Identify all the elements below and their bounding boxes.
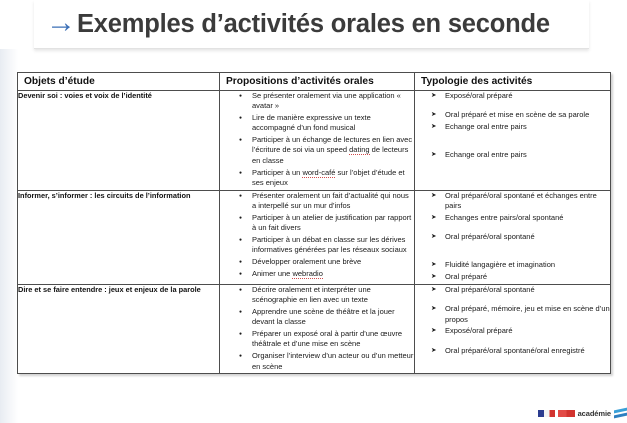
republic-flag-icon [558, 410, 575, 417]
list-item: Participer à un échange de lectures en l… [220, 135, 414, 166]
list-item: Fluidité langagière et imagination [415, 260, 610, 270]
objet-cell: Informer, s’informer : les circuits de l… [18, 190, 220, 284]
propositions-cell: Décrire oralement et interpréter une scé… [220, 284, 415, 373]
list-item: Echanges entre pairs/oral spontané [415, 213, 610, 223]
arrow-right-icon: → [46, 8, 76, 38]
list-item: Développer oralement une brève [220, 257, 414, 267]
page-title: Exemples d’activités orales en seconde [77, 10, 550, 39]
list-item: Exposé/oral préparé [415, 326, 610, 336]
typologie-list: Oral préparé/oral spontané et échanges e… [415, 191, 610, 283]
french-flag-icon [538, 410, 555, 417]
table-header-row: Objets d’étude Propositions d’activités … [18, 73, 611, 91]
list-item: Présenter oralement un fait d’actualité … [220, 191, 414, 212]
slide-title-banner: → Exemples d’activités orales en seconde [34, 0, 589, 49]
list-item: Oral préparé, mémoire, jeu et mise en sc… [415, 304, 610, 325]
list-item: Se présenter oralement via une applicati… [220, 91, 414, 112]
activities-table: Objets d’étude Propositions d’activités … [17, 72, 611, 374]
typologie-cell: Oral préparé/oral spontané Oral préparé,… [415, 284, 611, 373]
table-row: Informer, s’informer : les circuits de l… [18, 190, 611, 284]
academy-logo-icon [614, 407, 627, 420]
objet-cell: Dire et se faire entendre : jeux et enje… [18, 284, 220, 373]
list-item: Oral préparé [415, 272, 610, 282]
objet-cell: Devenir soi : voies et voix de l’identit… [18, 91, 220, 191]
propositions-cell: Présenter oralement un fait d’actualité … [220, 190, 415, 284]
typologie-cell: Exposé/oral préparé Oral préparé et mise… [415, 91, 611, 191]
propositions-list: Présenter oralement un fait d’actualité … [220, 191, 414, 279]
list-item: Participer à un débat en classe sur les … [220, 235, 414, 256]
column-header-typologie: Typologie des activités [415, 73, 611, 91]
list-item: Organiser l’interview d’un acteur ou d’u… [220, 351, 414, 372]
typologie-list: Oral préparé/oral spontané Oral préparé,… [415, 285, 610, 356]
list-item: Oral préparé/oral spontané [415, 232, 610, 242]
propositions-cell: Se présenter oralement via une applicati… [220, 91, 415, 191]
table-row: Dire et se faire entendre : jeux et enje… [18, 284, 611, 373]
footer-label: académie [578, 409, 611, 418]
typologie-list: Exposé/oral préparé Oral préparé et mise… [415, 91, 610, 161]
propositions-list: Décrire oralement et interpréter une scé… [220, 285, 414, 372]
propositions-list: Se présenter oralement via une applicati… [220, 91, 414, 188]
column-header-propositions: Propositions d’activités orales [220, 73, 415, 91]
list-item: Animer une webradio [220, 269, 414, 279]
list-item: Oral préparé/oral spontané et échanges e… [415, 191, 610, 212]
list-item: Participer à un word-café sur l’objet d’… [220, 168, 414, 189]
typologie-cell: Oral préparé/oral spontané et échanges e… [415, 190, 611, 284]
list-item: Lire de manière expressive un texte acco… [220, 113, 414, 134]
list-item: Participer à un atelier de justification… [220, 213, 414, 234]
table-row: Devenir soi : voies et voix de l’identit… [18, 91, 611, 191]
list-item: Oral préparé/oral spontané/oral enregist… [415, 346, 610, 356]
list-item: Décrire oralement et interpréter une scé… [220, 285, 414, 306]
footer-logo: académie [538, 403, 627, 423]
list-item: Echange oral entre pairs [415, 122, 610, 132]
list-item: Echange oral entre pairs [415, 150, 610, 160]
list-item: Préparer un exposé oral à partir d’une œ… [220, 329, 414, 350]
list-item: Oral préparé/oral spontané [415, 285, 610, 295]
column-header-objets: Objets d’étude [18, 73, 220, 91]
list-item: Exposé/oral préparé [415, 91, 610, 101]
list-item: Apprendre une scène de théâtre et la jou… [220, 307, 414, 328]
list-item: Oral préparé et mise en scène de sa paro… [415, 110, 610, 120]
